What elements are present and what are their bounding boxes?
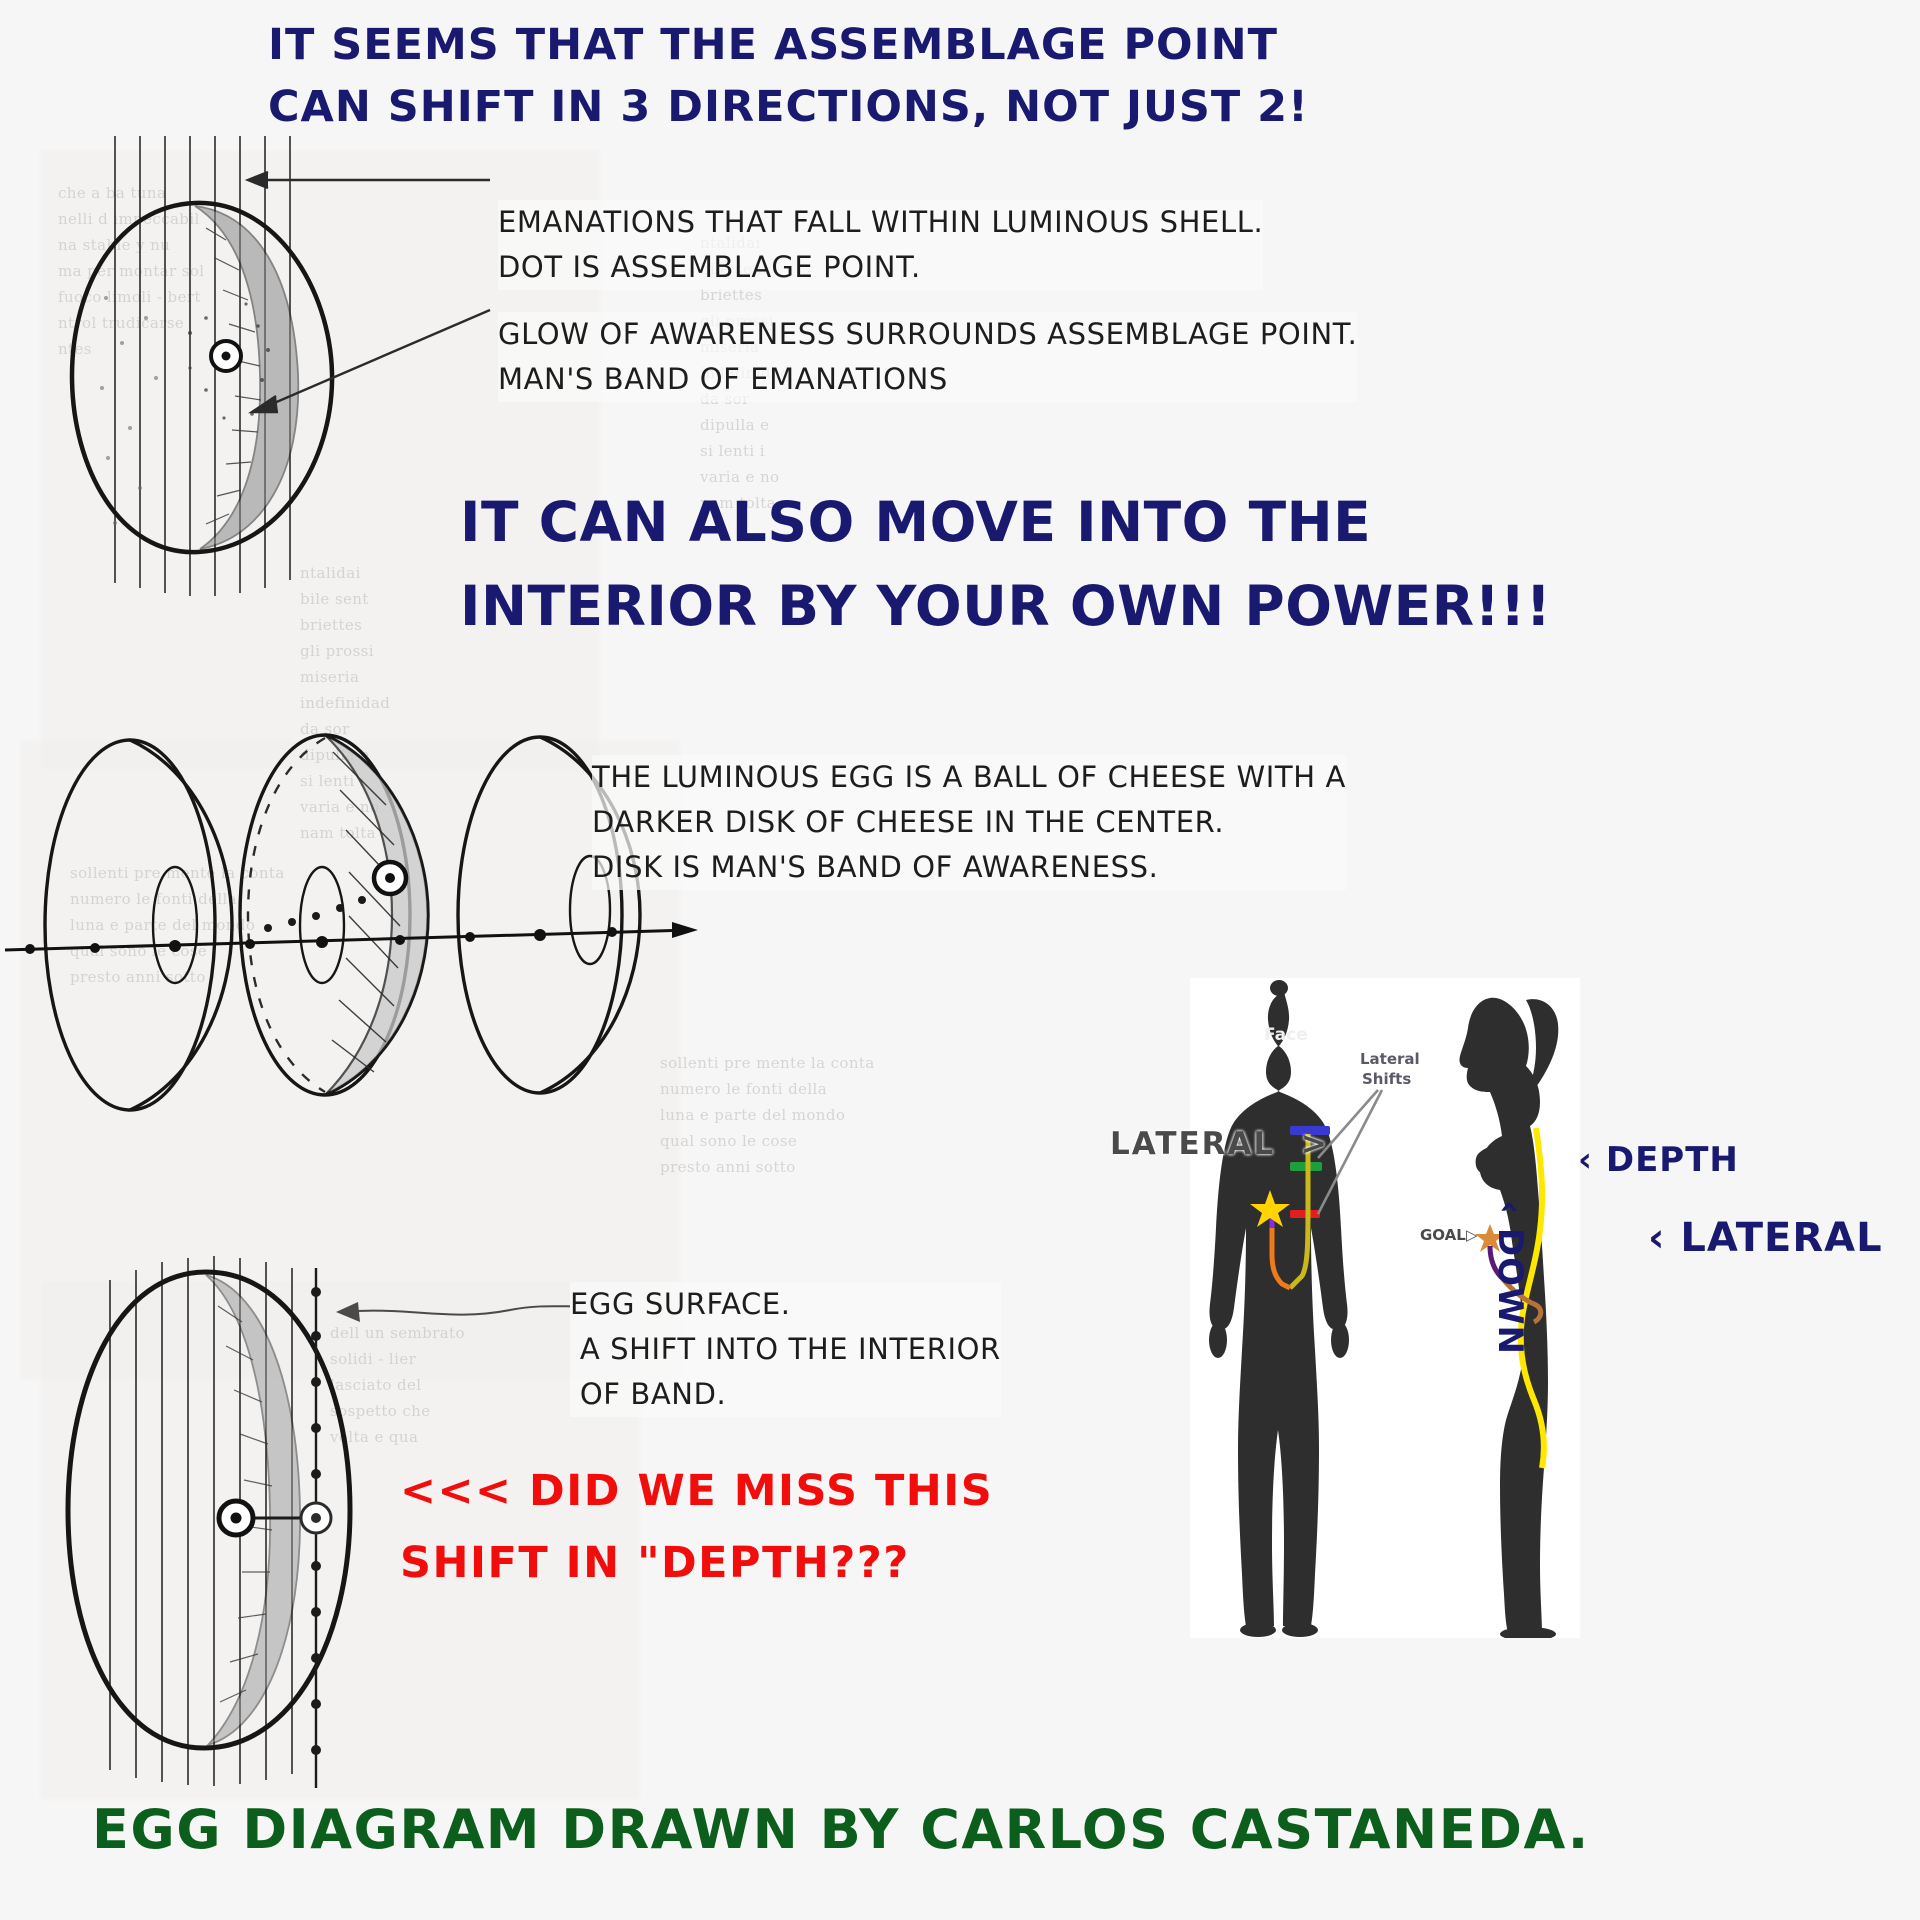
big-heading-line-2: INTERIOR BY YOUR OWN POWER!!! (460, 574, 1551, 638)
big-heading: IT CAN ALSO MOVE INTO THE INTERIOR BY YO… (460, 480, 1551, 648)
caption-glow-of-awareness: GLOW OF AWARENESS SURROUNDS ASSEMBLAGE P… (498, 312, 1358, 402)
label-depth: ‹ DEPTH (1578, 1140, 1739, 1180)
caption-luminous-egg: THE LUMINOUS EGG IS A BALL OF CHEESE WIT… (592, 755, 1346, 890)
egg-diagram-bottom (10, 1010, 570, 1810)
assemblage-point-shifted-dot (301, 1503, 331, 1533)
goal-arrow-icon: ▷ (1466, 1226, 1478, 1244)
lateral-shifts-label-line1: Lateral (1360, 1050, 1420, 1068)
red-annotation: <<< DID WE MISS THIS SHIFT IN "DEPTH??? (400, 1455, 993, 1599)
assemblage-point-dot (374, 862, 406, 894)
assemblage-point-dot (219, 1501, 253, 1535)
leader-arrowhead (336, 1302, 360, 1322)
label-lateral-front: LATERAL > (1110, 1126, 1329, 1162)
axis-arrowhead (672, 922, 698, 938)
footer-credit: EGG DIAGRAM DRAWN BY CARLOS CASTANEDA. (92, 1798, 1590, 1861)
goal-label: GOAL (1420, 1226, 1466, 1244)
red-annotation-line-2: SHIFT IN "DEPTH??? (400, 1538, 910, 1588)
label-lateral-side: ‹ LATERAL (1648, 1215, 1883, 1261)
label-down: ‹ DOWN (1490, 1200, 1530, 1355)
page-title: IT SEEMS THAT THE ASSEMBLAGE POINT CAN S… (268, 14, 1309, 138)
face-label: Face (1264, 1025, 1308, 1045)
caption-egg-surface: EGG SURFACE. A SHIFT INTO THE INTERIOR O… (570, 1282, 1001, 1417)
caption-leader-arrows (180, 140, 600, 460)
red-annotation-line-1: <<< DID WE MISS THIS (400, 1466, 993, 1516)
big-heading-line-1: IT CAN ALSO MOVE INTO THE (460, 490, 1371, 554)
red-marker-bar (1290, 1210, 1320, 1218)
page-canvas: che a ba tuna nelli d impeccabil na stab… (0, 0, 1920, 1920)
title-line-1: IT SEEMS THAT THE ASSEMBLAGE POINT (268, 20, 1278, 70)
caption-emanations: EMANATIONS THAT FALL WITHIN LUMINOUS SHE… (498, 200, 1263, 290)
lateral-shifts-label-line2: Shifts (1362, 1070, 1411, 1088)
title-line-2: CAN SHIFT IN 3 DIRECTIONS, NOT JUST 2! (268, 82, 1309, 132)
